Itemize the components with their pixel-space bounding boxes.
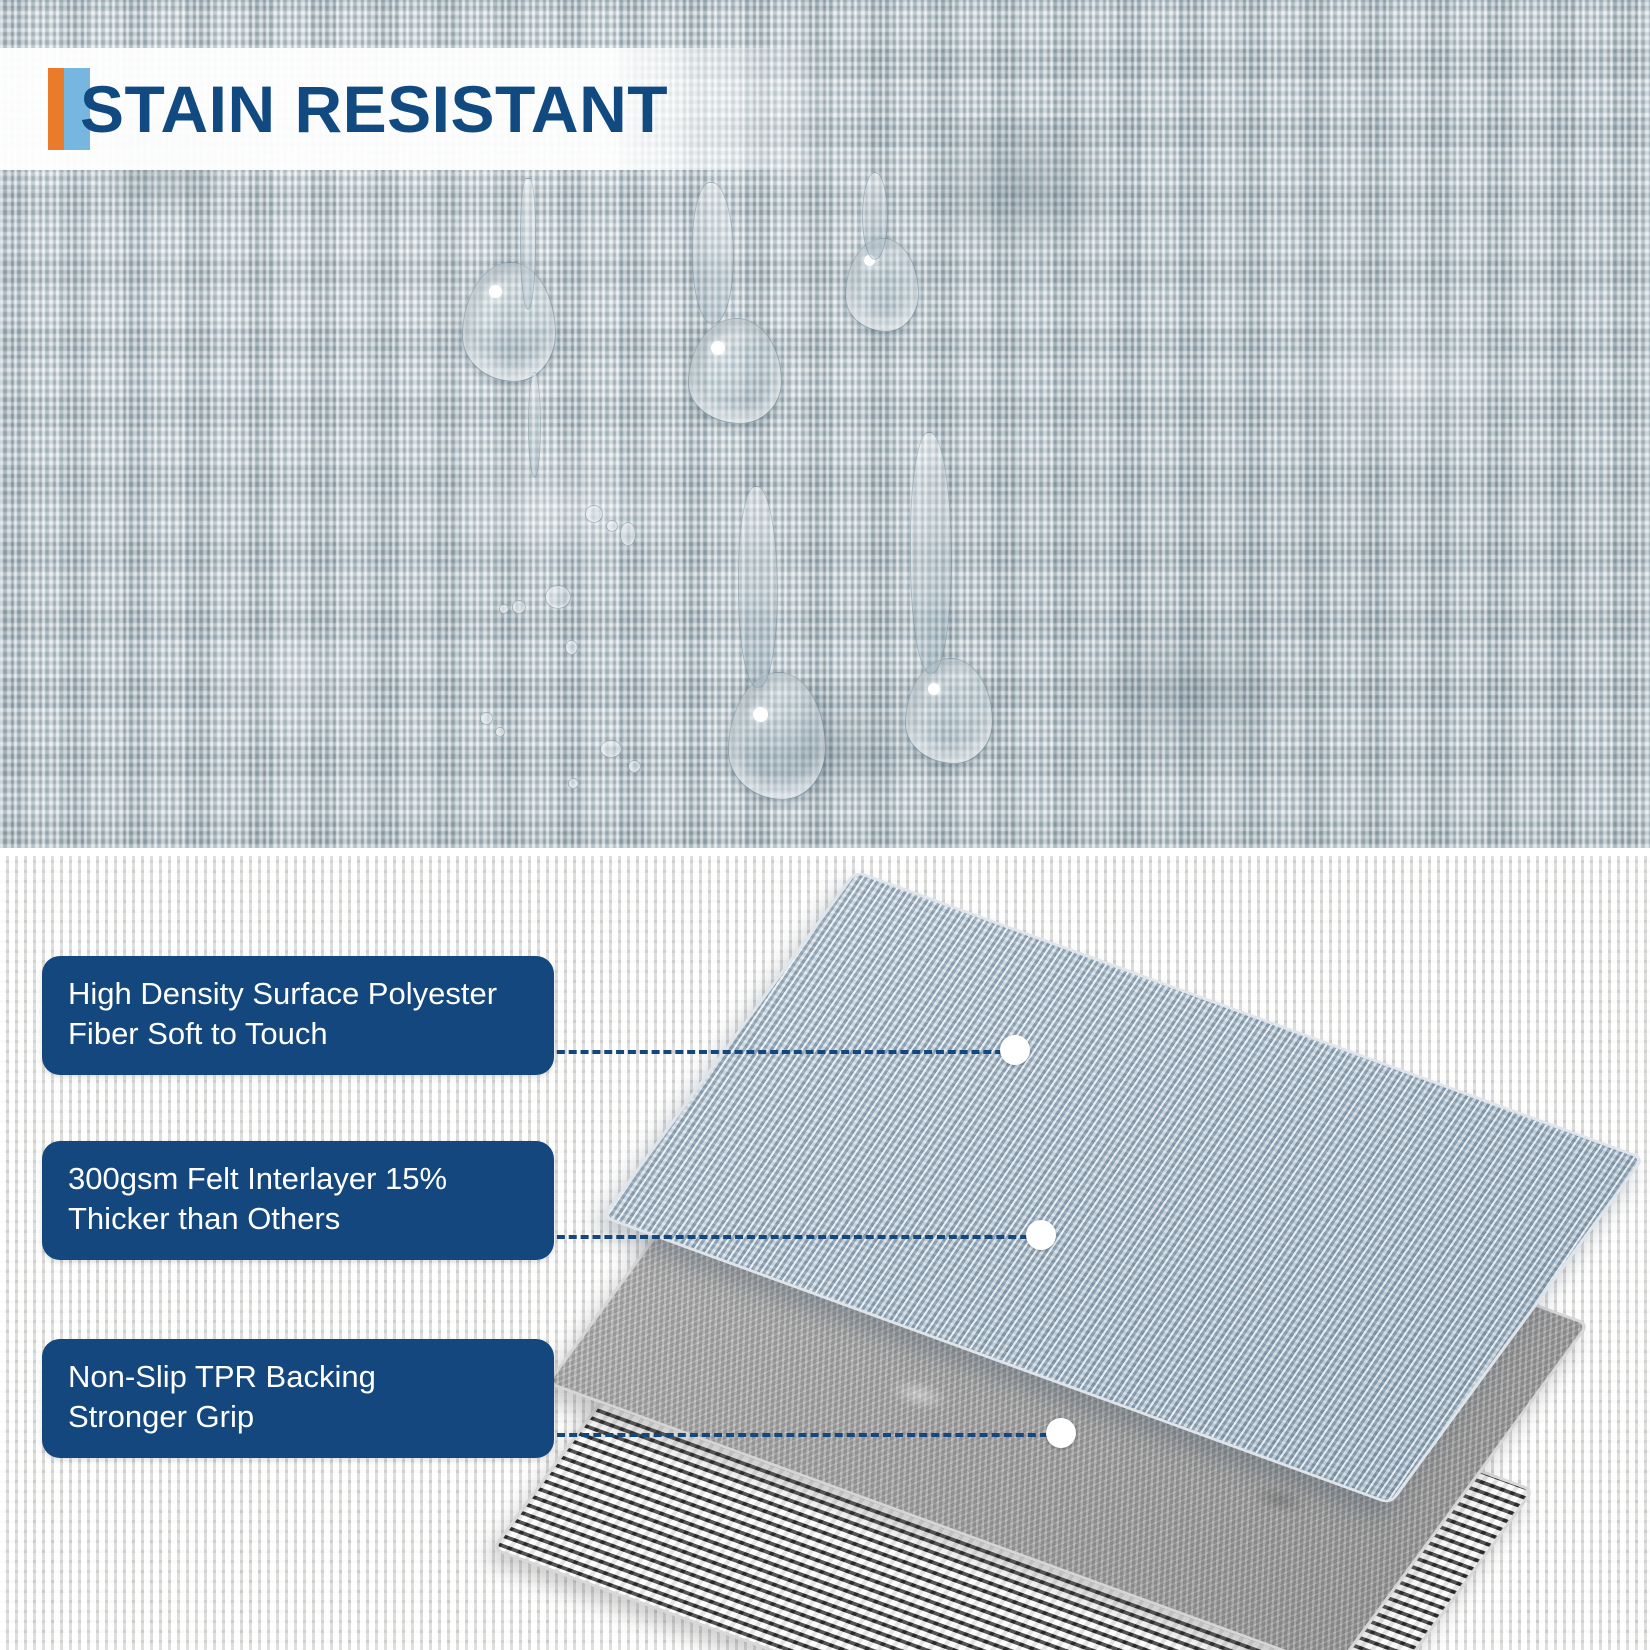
callout-backing-line2: Stronger Grip — [68, 1397, 528, 1437]
callout-surface-line2: Fiber Soft to Touch — [68, 1014, 528, 1054]
water-trail-icon — [862, 172, 888, 260]
callout-backing: Non-Slip TPR Backing Stronger Grip — [42, 1339, 554, 1458]
water-trail-icon — [520, 178, 536, 310]
callout-surface: High Density Surface Polyester Fiber Sof… — [42, 956, 554, 1075]
connector-endpoint-surface — [1000, 1035, 1030, 1065]
connector-line-interlayer — [545, 1235, 1040, 1239]
water-trail-icon — [692, 182, 734, 324]
water-trail-icon — [528, 372, 541, 478]
water-droplet-icon — [495, 727, 505, 737]
connector-endpoint-backing — [1046, 1418, 1076, 1448]
water-droplet-icon — [499, 604, 509, 614]
infographic-page: STAIN RESISTANT High Density Surface Pol… — [0, 0, 1650, 1650]
water-droplet-icon — [628, 760, 641, 773]
page-title: STAIN RESISTANT — [80, 76, 668, 142]
stain-resistant-photo-panel: STAIN RESISTANT — [0, 0, 1650, 848]
water-droplet-icon — [568, 778, 579, 789]
header-banner: STAIN RESISTANT — [0, 48, 852, 170]
connector-line-surface — [545, 1050, 1015, 1054]
accent-bar-orange — [48, 68, 64, 150]
connector-line-backing — [545, 1433, 1060, 1437]
water-droplet-icon — [545, 585, 571, 609]
callout-surface-line1: High Density Surface Polyester — [68, 974, 528, 1014]
water-droplet-icon — [565, 640, 578, 655]
water-droplet-icon — [606, 520, 618, 532]
layer-construction-panel: High Density Surface Polyester Fiber Sof… — [0, 856, 1650, 1650]
callout-interlayer-line1: 300gsm Felt Interlayer 15% — [68, 1159, 528, 1199]
water-droplet-icon — [600, 740, 622, 758]
water-droplet-icon — [512, 600, 526, 614]
callout-backing-line1: Non-Slip TPR Backing — [68, 1357, 528, 1397]
callout-interlayer-line2: Thicker than Others — [68, 1199, 528, 1239]
connector-endpoint-interlayer — [1026, 1220, 1056, 1250]
water-droplet-icon — [620, 522, 636, 546]
water-droplet-icon — [480, 712, 493, 725]
water-droplet-icon — [585, 505, 603, 523]
callout-interlayer: 300gsm Felt Interlayer 15% Thicker than … — [42, 1141, 554, 1260]
